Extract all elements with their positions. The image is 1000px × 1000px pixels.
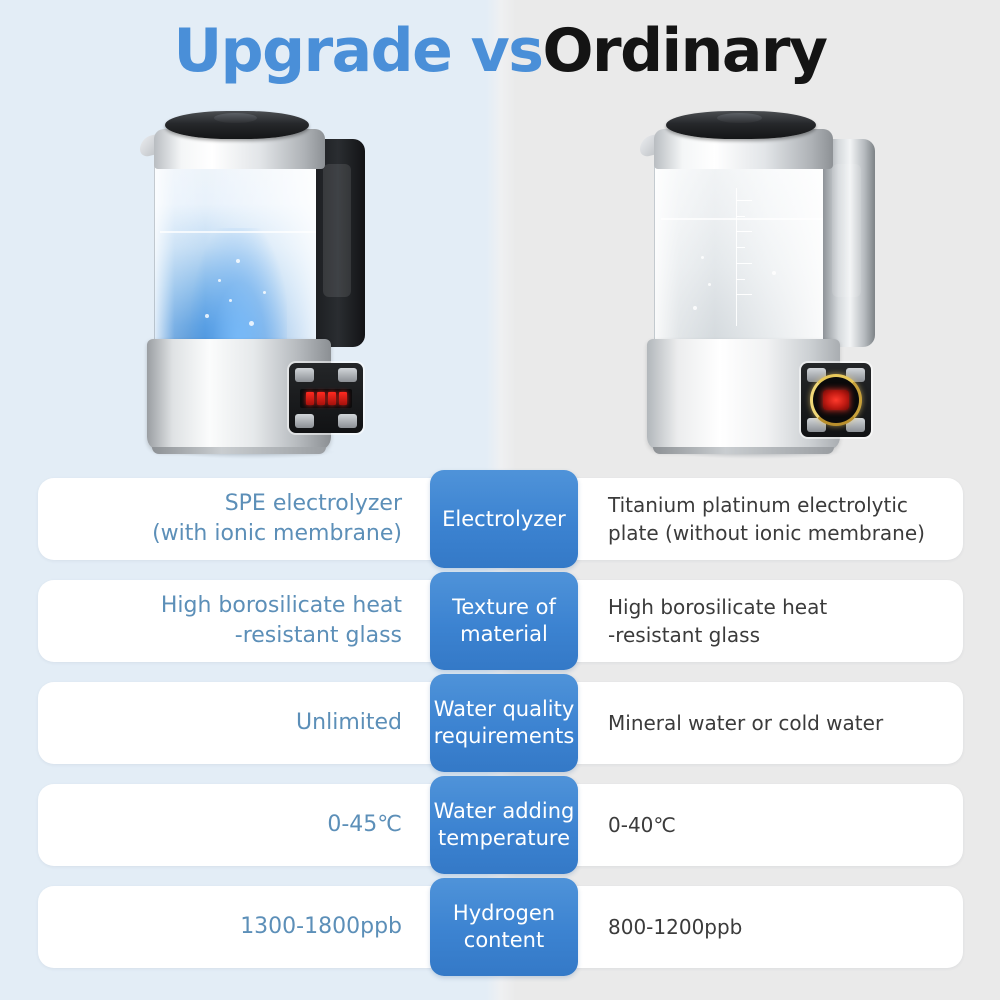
feature-badge: Texture of material xyxy=(430,572,578,670)
panel-button-icon xyxy=(338,368,357,382)
kettle-control-panel-upgrade xyxy=(289,363,363,433)
led-display-ordinary xyxy=(810,374,862,426)
scale-tick-icon xyxy=(736,200,752,201)
scale-tick-icon xyxy=(736,263,752,264)
kettle-glass-body xyxy=(154,157,325,353)
page-title: Upgrade vsOrdinary xyxy=(0,14,1000,88)
ordinary-value-cell: Mineral water or cold water xyxy=(598,682,960,764)
kettle-lid xyxy=(165,111,309,139)
panel-button-icon xyxy=(338,414,357,428)
feature-badge: Hydrogen content xyxy=(430,878,578,976)
upgrade-value-cell: High borosilicate heat -resistant glass xyxy=(60,580,420,662)
infographic-page: Upgrade vsOrdinary xyxy=(0,0,1000,1000)
upgrade-value-text: High borosilicate heat -resistant glass xyxy=(161,591,402,651)
scale-tick-icon xyxy=(736,247,745,248)
kettle-lid-knob xyxy=(717,113,762,123)
led-display-upgrade xyxy=(300,389,352,408)
kettle-lid-knob xyxy=(214,113,257,123)
comparison-row: SPE electrolyzer (with ionic membrane) E… xyxy=(0,470,1000,572)
kettle-glass-body xyxy=(654,157,833,353)
comparison-row: High borosilicate heat -resistant glass … xyxy=(0,572,1000,674)
comparison-table: SPE electrolyzer (with ionic membrane) E… xyxy=(0,470,1000,980)
led-segment-icon xyxy=(317,392,325,405)
upgrade-value-cell: 1300-1800ppb xyxy=(60,886,420,968)
feature-badge: Electrolyzer xyxy=(430,470,578,568)
feature-badge-label: Water adding temperature xyxy=(434,798,575,852)
page-title-ordinary: Ordinary xyxy=(543,16,827,86)
kettle-handle xyxy=(316,139,366,347)
scale-tick-icon xyxy=(736,216,745,217)
ordinary-value-text: High borosilicate heat -resistant glass xyxy=(608,593,827,649)
comparison-row: Unlimited Water quality requirements Min… xyxy=(0,674,1000,776)
ordinary-value-cell: Titanium platinum electrolytic plate (wi… xyxy=(598,478,960,560)
feature-badge-label: Hydrogen content xyxy=(453,900,555,954)
page-title-upgrade: Upgrade vs xyxy=(173,16,542,86)
ordinary-value-text: 800-1200ppb xyxy=(608,913,742,941)
measurement-scale-icon xyxy=(736,188,737,325)
upgrade-value-text: 1300-1800ppb xyxy=(240,912,402,942)
kettle-foot xyxy=(653,447,834,454)
scale-tick-icon xyxy=(736,231,752,232)
feature-badge-label: Electrolyzer xyxy=(442,506,566,533)
water-glow xyxy=(191,228,287,353)
bubble-icon xyxy=(708,283,711,286)
led-segment-icon xyxy=(339,392,347,405)
feature-badge-label: Water quality requirements xyxy=(434,696,575,750)
bubble-icon xyxy=(701,256,704,259)
kettle-handle-hole xyxy=(323,164,351,297)
feature-badge: Water quality requirements xyxy=(430,674,578,772)
upgrade-value-cell: 0-45℃ xyxy=(60,784,420,866)
water-level-line xyxy=(661,218,825,220)
water-level-line xyxy=(160,231,317,233)
product-image-ordinary-kettle xyxy=(640,105,875,455)
kettle-lid xyxy=(666,111,816,139)
product-image-row xyxy=(0,105,1000,465)
ordinary-value-text: Titanium platinum electrolytic plate (wi… xyxy=(608,491,925,547)
ordinary-value-text: 0-40℃ xyxy=(608,811,676,839)
upgrade-value-cell: SPE electrolyzer (with ionic membrane) xyxy=(60,478,420,560)
bubble-icon xyxy=(693,306,697,310)
led-digits-icon xyxy=(823,390,849,410)
bubble-icon xyxy=(249,321,254,326)
scale-tick-icon xyxy=(736,294,752,295)
bubble-icon xyxy=(205,314,209,318)
panel-button-icon xyxy=(295,414,314,428)
feature-badge-label: Texture of material xyxy=(452,594,556,648)
product-image-upgrade-kettle xyxy=(140,105,365,455)
led-segment-icon xyxy=(328,392,336,405)
kettle-handle xyxy=(823,139,875,347)
panel-button-icon xyxy=(295,368,314,382)
comparison-row: 0-45℃ Water adding temperature 0-40℃ xyxy=(0,776,1000,878)
scale-tick-icon xyxy=(736,279,745,280)
bubble-icon xyxy=(772,271,776,275)
upgrade-value-text: Unlimited xyxy=(296,708,402,738)
ordinary-value-cell: High borosilicate heat -resistant glass xyxy=(598,580,960,662)
led-segment-icon xyxy=(306,392,314,405)
upgrade-value-cell: Unlimited xyxy=(60,682,420,764)
ordinary-value-text: Mineral water or cold water xyxy=(608,709,883,737)
upgrade-value-text: 0-45℃ xyxy=(327,810,402,840)
upgrade-value-text: SPE electrolyzer (with ionic membrane) xyxy=(152,489,402,549)
kettle-handle-hole xyxy=(832,164,861,297)
kettle-control-panel-ordinary xyxy=(801,363,871,437)
kettle-foot xyxy=(152,447,325,454)
ordinary-value-cell: 0-40℃ xyxy=(598,784,960,866)
comparison-row: 1300-1800ppb Hydrogen content 800-1200pp… xyxy=(0,878,1000,980)
bubble-icon xyxy=(236,259,240,263)
ordinary-value-cell: 800-1200ppb xyxy=(598,886,960,968)
bubble-icon xyxy=(229,299,232,302)
feature-badge: Water adding temperature xyxy=(430,776,578,874)
